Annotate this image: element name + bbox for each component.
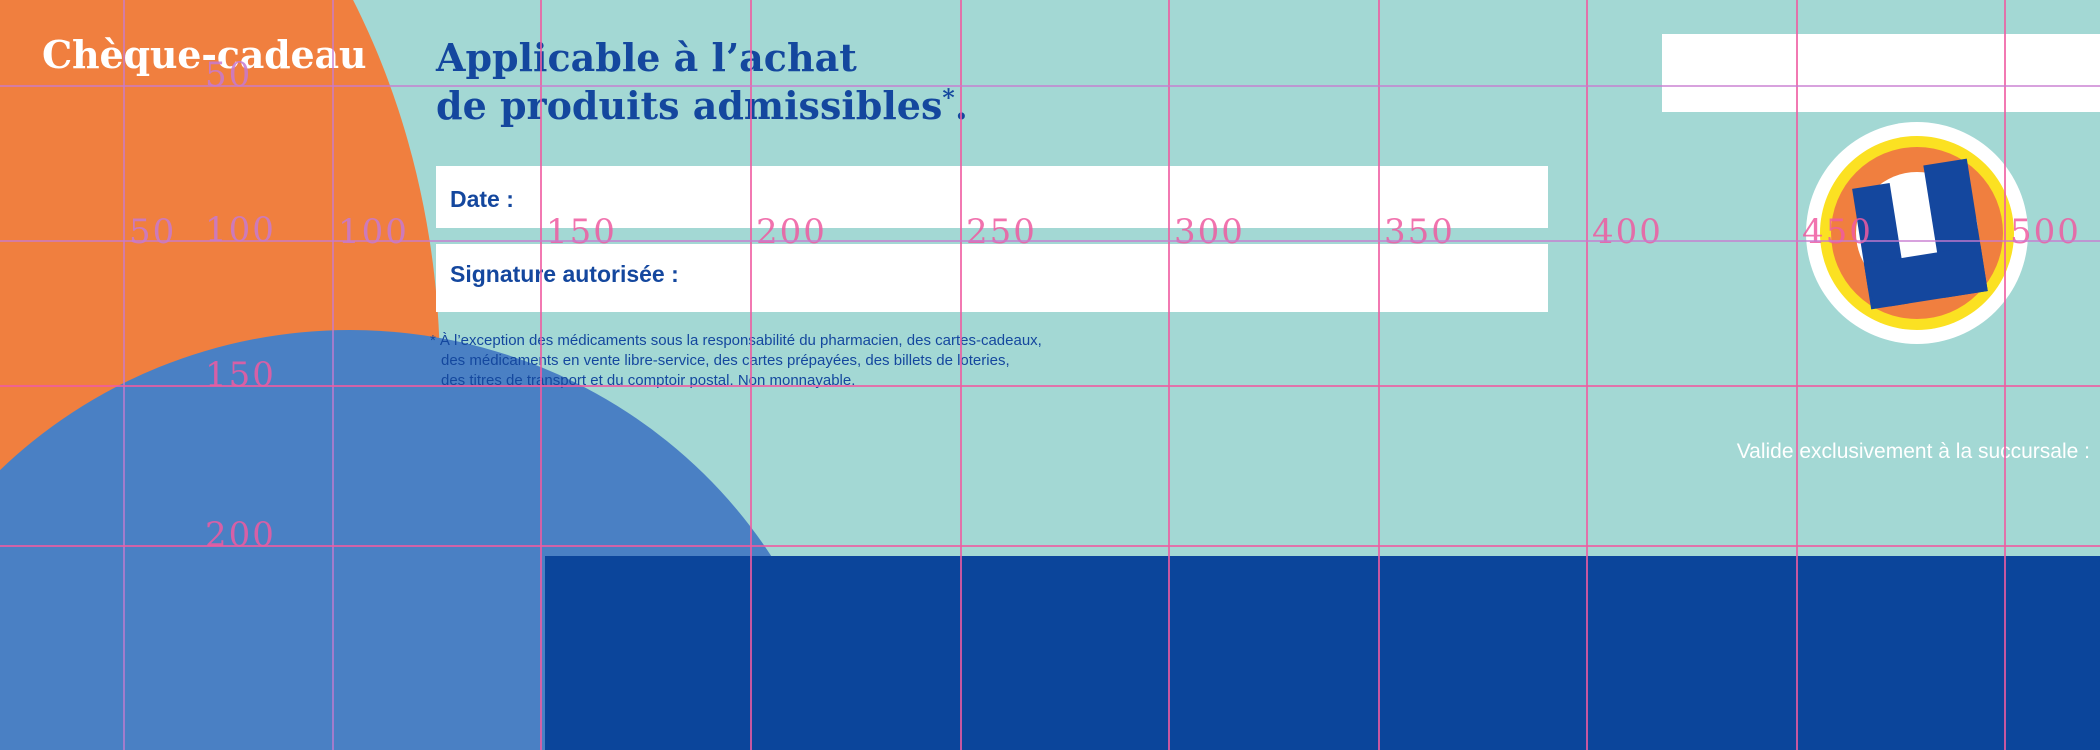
- signature-label: Signature autorisée :: [450, 261, 679, 288]
- headline-line-1: Applicable à l’achat: [436, 34, 968, 82]
- logo-u-letter-icon: [1850, 159, 1988, 310]
- fineprint-line-3: des titres de transport et du comptoir p…: [430, 371, 1042, 391]
- date-label: Date :: [450, 186, 514, 213]
- date-field-panel[interactable]: [436, 166, 1548, 228]
- card-title: Chèque-cadeau: [42, 32, 366, 77]
- fineprint-line-2: des médicaments en vente libre-service, …: [430, 351, 1042, 371]
- top-right-white-field[interactable]: [1662, 34, 2100, 112]
- headline-line-2-text: de produits admissibles: [436, 83, 942, 128]
- fineprint-block: *À l’exception des médicaments sous la r…: [430, 331, 1042, 391]
- headline-period: .: [955, 83, 968, 128]
- headline-asterisk: *: [942, 83, 954, 111]
- background-art: [0, 0, 2100, 750]
- fineprint-asterisk: *: [430, 332, 436, 349]
- branch-label: Valide exclusivement à la succursale :: [1737, 440, 2090, 464]
- uniprix-logo-icon: [1806, 122, 2028, 344]
- fineprint-line-1: *À l’exception des médicaments sous la r…: [430, 331, 1042, 351]
- headline: Applicable à l’achat de produits admissi…: [436, 34, 968, 130]
- gift-card-canvas: Chèque-cadeau Applicable à l’achat de pr…: [0, 0, 2100, 750]
- navy-footer-bar: [545, 556, 2100, 750]
- headline-line-2: de produits admissibles*.: [436, 82, 968, 130]
- fineprint-line-1-text: À l’exception des médicaments sous la re…: [440, 332, 1042, 349]
